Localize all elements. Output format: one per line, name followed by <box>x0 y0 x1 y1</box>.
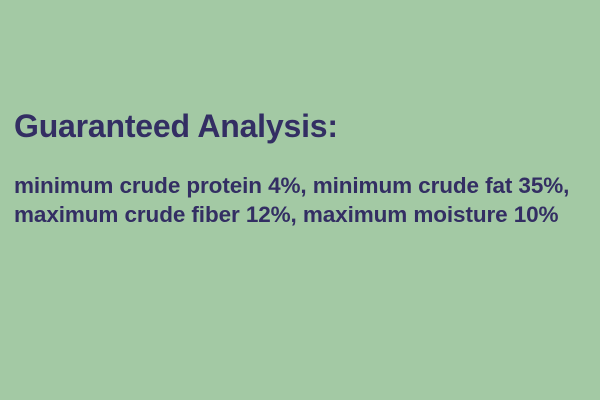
guaranteed-analysis-heading: Guaranteed Analysis: <box>14 104 600 148</box>
guaranteed-analysis-content: Guaranteed Analysis: minimum crude prote… <box>14 104 600 229</box>
guaranteed-analysis-panel: Guaranteed Analysis: minimum crude prote… <box>0 0 600 400</box>
guaranteed-analysis-body: minimum crude protein 4%, minimum crude … <box>14 148 594 229</box>
